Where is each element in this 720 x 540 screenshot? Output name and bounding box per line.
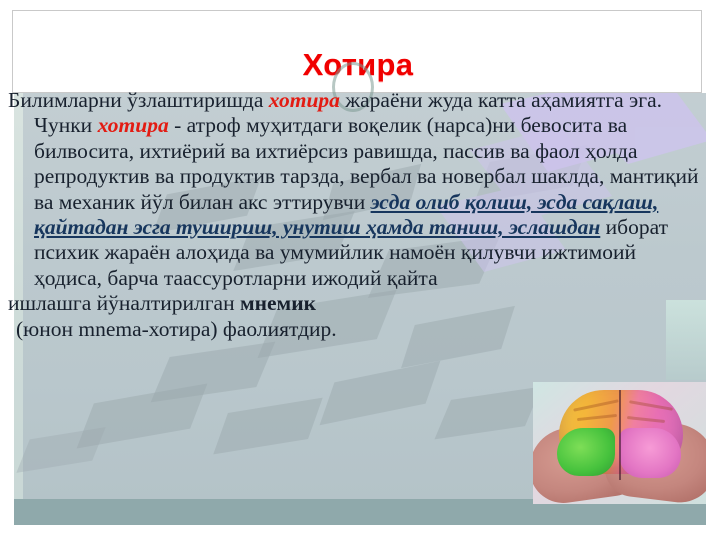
accent-term-2: хотира: [98, 113, 169, 137]
slide: Хотира Билимларни ўзлаштиришда хотира жа…: [0, 0, 720, 540]
accent-term-1: хотира: [269, 88, 340, 112]
brain-left-lobe: [557, 428, 615, 476]
content-placeholder: Билимларни ўзлаштиришда хотира жараёни ж…: [8, 88, 708, 342]
bold-term-mnemik: мнемик: [240, 291, 316, 315]
body-text-start: Билимларни ўзлаштиришда: [8, 88, 269, 112]
body-paragraph: Билимларни ўзлаштиришда хотира жараёни ж…: [8, 88, 708, 291]
body-tail-line-1: ишлашга йўналтирилган мнемик: [8, 291, 708, 316]
body-tail-line-2: (юнон mnema-хотира) фаолиятдир.: [8, 317, 708, 342]
brain-in-hands-image: [533, 382, 706, 504]
tail-text-pre: ишлашга йўналтирилган: [8, 291, 240, 315]
page-edge-bottom: [0, 525, 720, 540]
page-edge-right: [706, 0, 720, 540]
brain-right-lobe: [619, 428, 681, 478]
brain-midline: [619, 390, 621, 480]
